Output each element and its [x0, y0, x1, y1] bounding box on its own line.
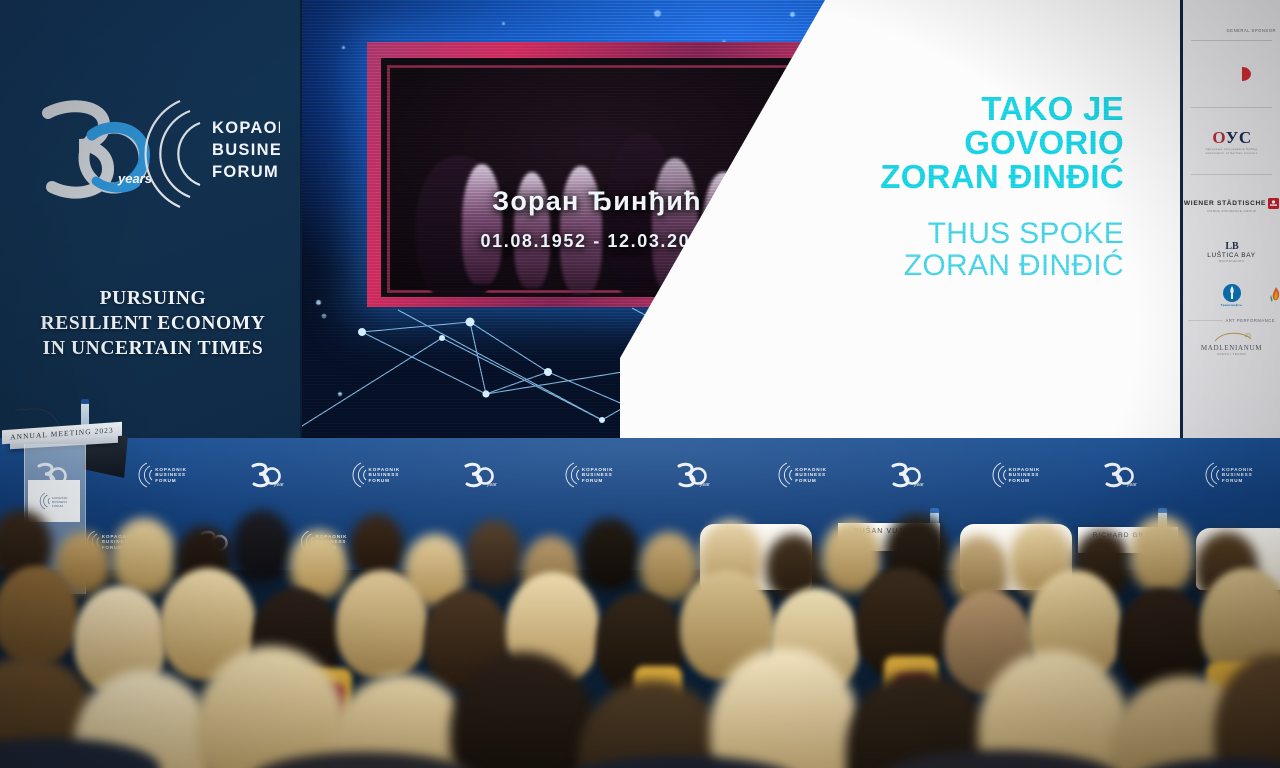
svg-text:years: years — [117, 171, 152, 186]
sponsor-uoc: У С O Удружење осигуравача Србије Associ… — [1183, 115, 1280, 167]
tagline-line-3: IN UNCERTAIN TIMES — [14, 336, 292, 361]
headline-sr-line-3: ZORAN ĐINĐIĆ — [734, 160, 1124, 194]
lustica-crest-icon: LB — [1223, 238, 1241, 252]
bottle-cap — [81, 399, 89, 404]
headline-en-line-1: THUS SPOKE — [734, 218, 1124, 250]
divider — [1191, 40, 1272, 41]
transneft-logo-icon — [1222, 283, 1242, 303]
tagline-line-1: PURSUING — [14, 286, 292, 311]
divider — [1191, 107, 1272, 108]
kopaonik-30-years-logo: years KOPAONIK BUSINESS FORUM — [30, 95, 280, 210]
svg-text:LB: LB — [1225, 241, 1239, 252]
led-presentation-screen: Зоран Ђинђић 01.08.1952 - 12.03.2003 — [302, 0, 1180, 438]
divider — [1188, 320, 1223, 321]
divider — [1191, 174, 1272, 175]
logo-brand-line1: KOPAONIK — [212, 119, 280, 137]
sponsor-wiener-staedtische: WIENER STÄDTISCHE VIENNA INSURANCE GROUP — [1183, 182, 1280, 228]
sponsor-lustica-bay: LB LUŠTICA BAY MONTENEGRO — [1183, 228, 1280, 272]
sponsor-wiener-sub: VIENNA INSURANCE GROUP — [1207, 209, 1256, 213]
sponsor-logo-main — [1183, 48, 1280, 100]
sponsor-madlenianum-sub: OPERA I TEATAR — [1217, 352, 1246, 356]
madlenianum-arc-icon: 25 — [1209, 330, 1255, 344]
logo-brand-line3: FORUM — [212, 163, 279, 181]
sponsor-panel: GENERAL SPONSOR У С O Удружење осигурава… — [1180, 0, 1280, 440]
headline-sr-line-2: GOVORIO — [734, 126, 1124, 160]
sponsor-wiener-name: WIENER STÄDTISCHE — [1184, 200, 1266, 207]
logo-brand-line2: BUSINESS — [212, 141, 280, 159]
sponsor-uoc-sub-en: Association of Serbian Insurers — [1205, 151, 1257, 155]
flame-logo-icon — [1268, 286, 1280, 304]
headline-serbian: TAKO JE GOVORIO ZORAN ĐINĐIĆ — [734, 92, 1124, 194]
svg-text:O: O — [1212, 128, 1225, 147]
sponsor-transneft-name: Транснефть — [1221, 303, 1243, 307]
headline-sr-line-1: TAKO JE — [734, 92, 1124, 126]
svg-text:У: У — [1225, 128, 1238, 147]
sponsor-lustica-sub: MONTENEGRO — [1219, 259, 1245, 263]
headline-en-line-2: ZORAN ĐINĐIĆ — [734, 250, 1124, 282]
red-brand-mark-icon — [1212, 63, 1252, 85]
audience-crowd — [0, 470, 1280, 768]
wiener-shield-icon — [1268, 198, 1279, 209]
sponsor-madlenianum-name: MADLENIANUM — [1201, 344, 1262, 352]
banner-tagline: PURSUING RESILIENT ECONOMY IN UNCERTAIN … — [14, 286, 292, 361]
svg-text:25: 25 — [1245, 333, 1251, 339]
svg-text:С: С — [1238, 128, 1250, 147]
conference-photo-scene: years KOPAONIK BUSINESS FORUM PURSUING R… — [0, 0, 1280, 768]
tagline-line-2: RESILIENT ECONOMY — [14, 311, 292, 336]
screen-headline-block: TAKO JE GOVORIO ZORAN ĐINĐIĆ THUS SPOKE … — [734, 92, 1124, 282]
sponsor-row-energy: Транснефть — [1183, 272, 1280, 318]
sponsor-transneft: Транснефть — [1221, 283, 1243, 307]
uoc-logo-icon: У С O — [1205, 127, 1259, 147]
sponsor-panel-header: GENERAL SPONSOR — [1183, 28, 1280, 33]
sponsor-lustica-name: LUŠTICA BAY — [1207, 252, 1255, 259]
headline-english: THUS SPOKE ZORAN ĐINĐIĆ — [734, 218, 1124, 282]
left-banner-panel — [0, 0, 302, 440]
sponsor-madlenianum: 25 MADLENIANUM OPERA I TEATAR — [1183, 323, 1280, 363]
